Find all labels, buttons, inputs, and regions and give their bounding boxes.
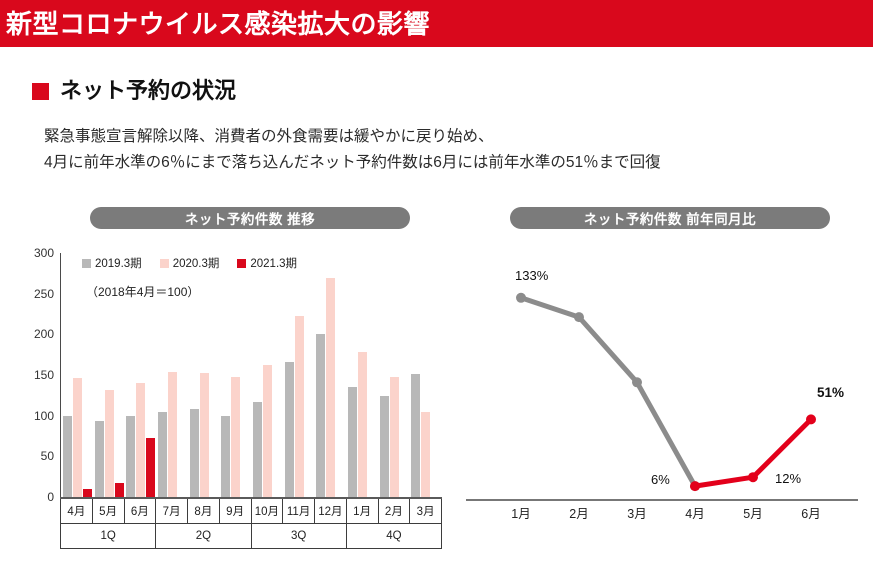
x-axis-month-label: 8月 <box>188 499 220 524</box>
legend-swatch-icon <box>160 259 169 268</box>
bar <box>380 396 389 497</box>
line-x-axis-label: 1月 <box>492 503 550 522</box>
x-axis-quarter-label: 3Q <box>251 524 346 549</box>
x-axis-month-label: 2月 <box>378 499 410 524</box>
legend-swatch-icon <box>82 259 91 268</box>
section-heading-label: ネット予約の状況 <box>60 80 236 102</box>
bar <box>221 416 230 497</box>
lead-line-1: 緊急事態宣言解除以降、消費者の外食需要は緩やかに戻り始め、 <box>44 124 661 150</box>
lead-paragraph: 緊急事態宣言解除以降、消費者の外食需要は緩やかに戻り始め、 4月に前年水準の6％… <box>44 124 661 176</box>
legend-swatch-icon <box>237 259 246 268</box>
line-data-point <box>748 472 758 482</box>
bar <box>95 421 104 497</box>
bar-group <box>283 253 315 497</box>
bar <box>63 416 72 497</box>
bar-chart-note: （2018年4月＝100） <box>86 283 199 300</box>
y-tick: 200 <box>18 327 54 341</box>
bar-group <box>378 253 410 497</box>
bar <box>105 390 114 497</box>
line-x-axis-label: 5月 <box>724 503 782 522</box>
x-axis-quarter-label: 1Q <box>61 524 156 549</box>
bar <box>146 438 155 497</box>
bar <box>83 489 92 497</box>
line-point-label: 12% <box>775 471 801 486</box>
x-axis-month-label: 11月 <box>283 499 315 524</box>
x-axis-quarter-row: 1Q2Q3Q4Q <box>61 524 442 549</box>
line-point-label: 133% <box>515 268 548 283</box>
line-x-axis-label: 3月 <box>608 503 666 522</box>
legend-label: 2019.3期 <box>95 255 142 271</box>
bar <box>168 372 177 497</box>
bar <box>348 387 357 497</box>
x-axis-quarter-label: 2Q <box>156 524 251 549</box>
legend-item-2020: 2020.3期 <box>160 255 220 271</box>
line-data-point <box>632 377 642 387</box>
line-chart-title-pill: ネット予約件数 前年同月比 <box>510 207 830 229</box>
x-axis-month-row: 4月5月6月7月8月9月10月11月12月1月2月3月 <box>61 499 442 524</box>
bar <box>190 409 199 497</box>
y-tick: 250 <box>18 287 54 301</box>
bar <box>115 483 124 497</box>
line-chart-x-axis: 1月2月3月4月5月6月 <box>462 503 862 522</box>
page-title-banner: 新型コロナウイルス感染拡大の影響 <box>0 0 873 47</box>
bar <box>126 416 135 497</box>
line-chart-svg <box>462 245 862 507</box>
legend-label: 2020.3期 <box>173 255 220 271</box>
x-axis-quarter-label: 4Q <box>346 524 441 549</box>
bar-group <box>252 253 284 497</box>
bar <box>253 402 262 497</box>
bar-group <box>315 253 347 497</box>
bar <box>200 373 209 497</box>
bar <box>158 412 167 497</box>
line-x-axis-label: 6月 <box>782 503 840 522</box>
x-axis-month-label: 1月 <box>346 499 378 524</box>
y-tick: 300 <box>18 246 54 260</box>
bar-group <box>410 253 442 497</box>
lead-line-2: 4月に前年水準の6％にまで落ち込んだネット予約件数は6月には前年水準の51％まで… <box>44 150 661 176</box>
bar <box>231 377 240 497</box>
bar-chart-title-pill: ネット予約件数 推移 <box>90 207 410 229</box>
section-heading: ネット予約の状況 <box>32 80 236 102</box>
x-axis-month-label: 7月 <box>156 499 188 524</box>
line-chart: 1月2月3月4月5月6月 133%6%12%51% <box>462 245 862 565</box>
line-point-label: 6% <box>651 472 670 487</box>
y-tick: 50 <box>18 449 54 463</box>
page-title: 新型コロナウイルス感染拡大の影響 <box>0 11 430 37</box>
legend-label: 2021.3期 <box>250 255 297 271</box>
bar-group <box>347 253 379 497</box>
bar <box>358 352 367 497</box>
bar-group <box>220 253 252 497</box>
y-tick: 150 <box>18 368 54 382</box>
bar <box>316 334 325 497</box>
line-data-point <box>806 414 816 424</box>
bar <box>326 278 335 497</box>
x-axis-month-label: 9月 <box>219 499 251 524</box>
bar <box>136 383 145 497</box>
y-tick: 100 <box>18 409 54 423</box>
line-point-label: 51% <box>817 385 844 400</box>
line-data-point <box>574 312 584 322</box>
bar <box>295 316 304 497</box>
x-axis-month-label: 10月 <box>251 499 283 524</box>
bar <box>421 412 430 497</box>
bar-chart-y-axis: 300 250 200 150 100 50 0 <box>18 245 54 497</box>
x-axis-month-label: 12月 <box>315 499 347 524</box>
line-data-point <box>516 293 526 303</box>
bar <box>285 362 294 497</box>
x-axis-month-label: 4月 <box>61 499 93 524</box>
line-x-axis-label: 2月 <box>550 503 608 522</box>
x-axis-month-label: 3月 <box>410 499 442 524</box>
line-series-0 <box>521 298 695 486</box>
bar <box>73 378 82 497</box>
bar-chart-legend: 2019.3期 2020.3期 2021.3期 <box>82 255 297 271</box>
line-data-point <box>690 481 700 491</box>
bar <box>263 365 272 497</box>
line-x-axis-label: 4月 <box>666 503 724 522</box>
bar-chart: 300 250 200 150 100 50 0 2019.3期 2020.3期… <box>18 245 458 565</box>
bar <box>390 377 399 497</box>
bar <box>411 374 420 497</box>
y-tick: 0 <box>18 490 54 504</box>
legend-item-2021: 2021.3期 <box>237 255 297 271</box>
x-axis-month-label: 5月 <box>92 499 124 524</box>
red-square-icon <box>32 83 49 100</box>
bar-chart-x-axis: 4月5月6月7月8月9月10月11月12月1月2月3月 1Q2Q3Q4Q <box>60 499 442 549</box>
x-axis-month-label: 6月 <box>124 499 156 524</box>
legend-item-2019: 2019.3期 <box>82 255 142 271</box>
